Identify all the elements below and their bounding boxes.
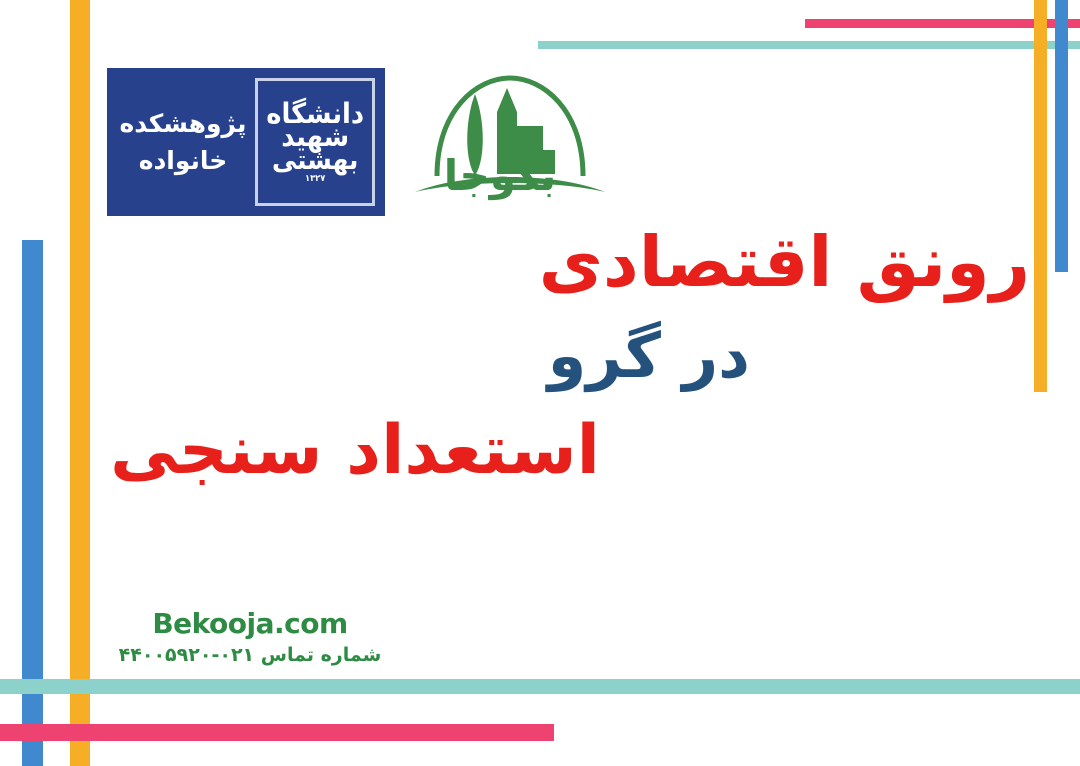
seal-line-4: ۱۳۲۷ [266,175,364,184]
headline-block: رونق اقتصادی در گرو استعداد سنجی [0,225,1040,487]
university-word-1: پژوهشکده [117,105,249,143]
website-name[interactable]: Bekooja.com [100,607,400,640]
slide-canvas: دانشگاه شهید بهشتی ۱۳۲۷ پژوهشکده خانواده… [0,0,1080,766]
decoration-bar-blue-right [1055,0,1068,272]
phone-number: شماره تماس ۰۲۱-۴۴۰۰۵۹۲۰ [100,644,400,666]
footer-contact: Bekooja.com شماره تماس ۰۲۱-۴۴۰۰۵۹۲۰ [100,607,400,666]
university-logo-words: پژوهشکده خانواده [117,105,255,180]
seal-line-3: بهشتی [266,148,364,174]
bekooja-logo-word: بکوجا [425,155,575,197]
headline-line-3: استعداد سنجی [0,414,1040,487]
headline-line-1: رونق اقتصادی [0,225,1040,301]
decoration-bar-teal-bottom [0,679,1080,694]
university-word-2: خانواده [117,142,249,180]
headline-line-2: در گرو [0,323,1040,390]
decoration-bar-pink-bottom [0,724,554,741]
university-logo: دانشگاه شهید بهشتی ۱۳۲۷ پژوهشکده خانواده [107,68,385,216]
university-seal-icon: دانشگاه شهید بهشتی ۱۳۲۷ [255,78,375,206]
decoration-bar-teal-top [538,41,1080,49]
